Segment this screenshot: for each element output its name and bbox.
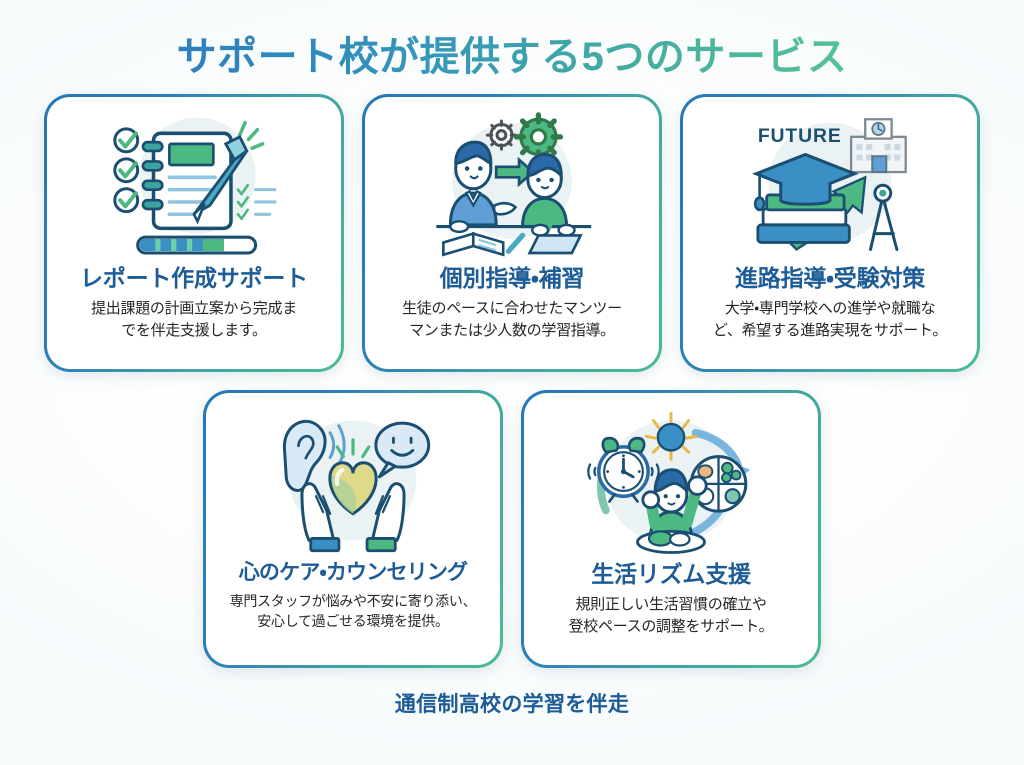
card-inner: FUTURE	[683, 97, 977, 369]
card-description: 規則正しい生活習慣の確立や 登校ペースの調整をサポート。	[569, 594, 774, 637]
card-description: 提出課題の計画立案から完成ま でを伴走支援します。	[91, 298, 297, 341]
card-title: 個別指導・補習	[440, 265, 584, 291]
card-description: 大学・専門学校への進学や就職な ど、希望する進路実現をサポート。	[713, 298, 947, 341]
card-title: レポート作成サポート	[80, 265, 308, 291]
card-inner: 個別指導・補習 生徒のペースに合わせたマンツー マンまたは少人数の学習指導。	[365, 97, 659, 369]
card-career-guidance[interactable]: FUTURE	[680, 94, 980, 372]
card-inner: レポート作成サポート 提出課題の計画立案から完成ま でを伴走支援します。	[47, 97, 341, 369]
title-container: サポート校が提供する5つのサービス	[177, 24, 848, 82]
card-title: 進路指導・受験対策	[735, 265, 925, 291]
card-description: 生徒のペースに合わせたマンツー マンまたは少人数の学習指導。	[402, 298, 622, 341]
daily-rhythm-clock-icon	[583, 407, 759, 559]
card-report-support[interactable]: レポート作成サポート 提出課題の計画立案から完成ま でを伴走支援します。	[44, 94, 344, 372]
card-row-bottom: 心のケア・カウンセリング 専門スタッフが悩みや不安に寄り添い、 安心して過ごせる…	[203, 390, 821, 668]
infographic-root: サポート校が提供する5つのサービス	[0, 0, 1024, 765]
card-inner: 生活リズム支援 規則正しい生活習慣の確立や 登校ペースの調整をサポート。	[524, 393, 818, 665]
graduation-future-icon: FUTURE	[742, 111, 918, 263]
page-title: サポート校が提供する5つのサービス	[177, 24, 848, 82]
card-individual-instruction[interactable]: 個別指導・補習 生徒のペースに合わせたマンツー マンまたは少人数の学習指導。	[362, 94, 662, 372]
future-label: FUTURE	[758, 125, 842, 147]
teacher-student-icon	[424, 111, 600, 263]
card-mental-care[interactable]: 心のケア・カウンセリング 専門スタッフが悩みや不安に寄り添い、 安心して過ごせる…	[203, 390, 503, 668]
card-row-top: レポート作成サポート 提出課題の計画立案から完成ま でを伴走支援します。	[44, 94, 980, 372]
heart-hands-listening-icon	[265, 407, 441, 559]
card-title: 心のケア・カウンセリング	[239, 561, 468, 585]
notebook-checklist-icon	[106, 111, 282, 263]
card-inner: 心のケア・カウンセリング 専門スタッフが悩みや不安に寄り添い、 安心して過ごせる…	[206, 393, 500, 665]
card-life-rhythm[interactable]: 生活リズム支援 規則正しい生活習慣の確立や 登校ペースの調整をサポート。	[521, 390, 821, 668]
card-title: 生活リズム支援	[591, 561, 751, 587]
card-description: 専門スタッフが悩みや不安に寄り添い、 安心して過ごせる環境を提供。	[230, 592, 477, 632]
footer-caption: 通信制高校の学習を伴走	[395, 688, 629, 718]
